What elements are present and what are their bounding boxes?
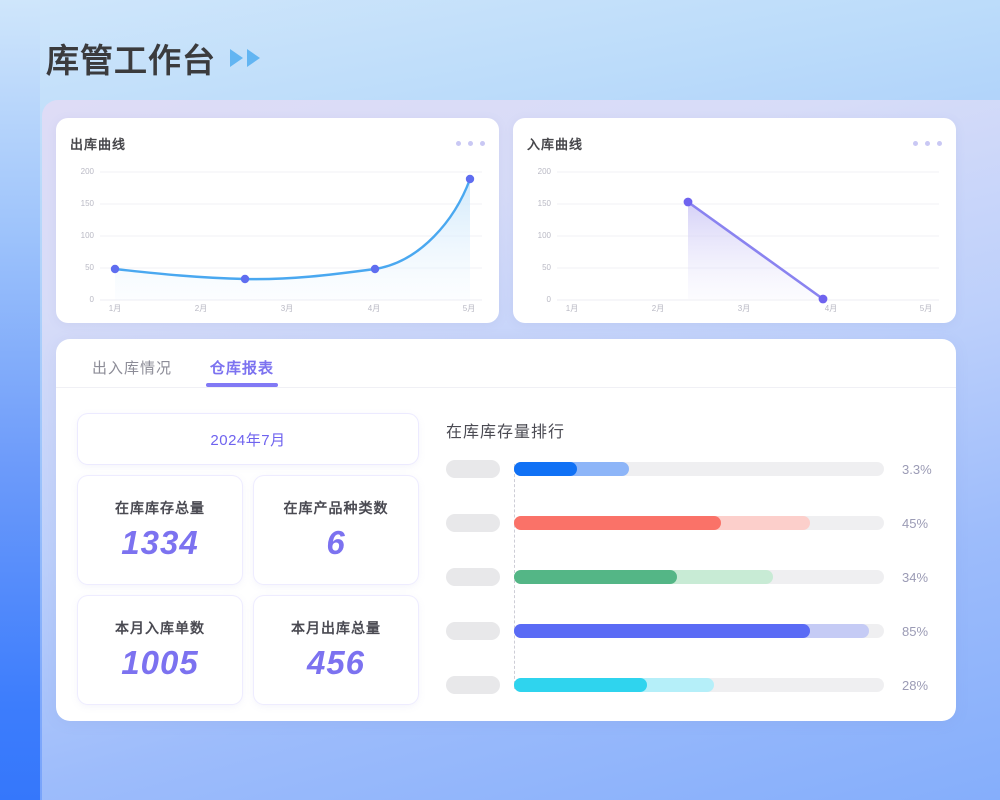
stat-card-outbound-total[interactable]: 本月出库总量 456 (254, 596, 418, 704)
ranking-row[interactable]: 28% (446, 676, 934, 694)
period-label: 2024年7月 (210, 429, 285, 450)
ranking-fill-solid (514, 678, 647, 692)
stats-column: 2024年7月 在库库存总量 1334 在库产品种类数 6 本月入库单数 100… (78, 414, 418, 704)
ranking-name-placeholder (446, 568, 500, 586)
inbound-chart-title: 入库曲线 (527, 134, 583, 153)
report-panel: 出入库情况 仓库报表 2024年7月 在库库存总量 1334 在库产品种类数 6 (56, 339, 956, 721)
ranking-percent: 45% (902, 516, 928, 531)
inbound-ytick-100: 100 (527, 231, 551, 240)
ranking-percent: 28% (902, 678, 928, 693)
outbound-ytick-50: 50 (70, 263, 94, 272)
stat-label: 本月出库总量 (291, 618, 381, 638)
ranking-name-placeholder (446, 622, 500, 640)
inbound-plot: 200 150 100 50 0 1月 2月 3月 4月 5月 (527, 158, 942, 316)
ranking-fill-solid (514, 462, 577, 476)
ranking-fill-solid (514, 570, 677, 584)
outbound-xtick-4: 4月 (361, 303, 387, 314)
inbound-plot-svg (527, 158, 942, 316)
ranking-track (514, 678, 884, 692)
inbound-ytick-50: 50 (527, 263, 551, 272)
ranking-column: 在库库存量排行 3.3% (446, 414, 934, 704)
stat-label: 在库库存总量 (115, 498, 205, 518)
ranking-track (514, 516, 884, 530)
outbound-ytick-100: 100 (70, 231, 94, 240)
stat-grid: 在库库存总量 1334 在库产品种类数 6 本月入库单数 1005 本月出库总量… (78, 476, 418, 704)
ranking-percent: 34% (902, 570, 928, 585)
stat-card-total-stock[interactable]: 在库库存总量 1334 (78, 476, 242, 584)
ranking-track (514, 624, 884, 638)
outbound-chart-header: 出库曲线 (70, 132, 485, 154)
inbound-ytick-0: 0 (527, 295, 551, 304)
inbound-chart-header: 入库曲线 (527, 132, 942, 154)
inbound-chart-card: 入库曲线 (513, 118, 956, 323)
stat-value: 456 (307, 644, 365, 682)
report-tabs: 出入库情况 仓库报表 (78, 357, 934, 387)
ranking-fill-solid (514, 624, 810, 638)
ranking-rows: 3.3% 45% (446, 460, 934, 694)
stat-value: 1005 (121, 644, 198, 682)
period-selector[interactable]: 2024年7月 (78, 414, 418, 464)
outbound-ytick-0: 0 (70, 295, 94, 304)
dashboard-panel: 出库曲线 (42, 100, 1000, 800)
inbound-xtick-2: 2月 (645, 303, 671, 314)
ranking-name-placeholder (446, 676, 500, 694)
report-content: 2024年7月 在库库存总量 1334 在库产品种类数 6 本月入库单数 100… (78, 414, 934, 704)
outbound-chart-title: 出库曲线 (70, 134, 126, 153)
ranking-name-placeholder (446, 460, 500, 478)
three-dots-icon[interactable] (913, 141, 942, 146)
outbound-plot: 200 150 100 50 0 1月 2月 3月 4月 5月 (70, 158, 485, 316)
outbound-ytick-200: 200 (70, 167, 94, 176)
inbound-ytick-200: 200 (527, 167, 551, 176)
ranking-name-placeholder (446, 514, 500, 532)
ranking-percent: 3.3% (902, 462, 932, 477)
ranking-row[interactable]: 34% (446, 568, 934, 586)
outbound-xtick-3: 3月 (274, 303, 300, 314)
ranking-row[interactable]: 85% (446, 622, 934, 640)
ranking-percent: 85% (902, 624, 928, 639)
inbound-ytick-150: 150 (527, 199, 551, 208)
tab-divider (56, 387, 956, 388)
ranking-row[interactable]: 45% (446, 514, 934, 532)
outbound-chart-card: 出库曲线 (56, 118, 499, 323)
inbound-xtick-1: 1月 (559, 303, 585, 314)
inbound-xtick-5: 5月 (913, 303, 939, 314)
inbound-xtick-4: 4月 (818, 303, 844, 314)
stat-value: 1334 (121, 524, 198, 562)
ranking-title: 在库库存量排行 (446, 418, 934, 442)
tab-inout-status[interactable]: 出入库情况 (92, 357, 172, 387)
outbound-ytick-150: 150 (70, 199, 94, 208)
stat-label: 在库产品种类数 (284, 498, 389, 518)
page-header: 库管工作台 (46, 34, 260, 82)
inbound-xtick-3: 3月 (731, 303, 757, 314)
outbound-xtick-5: 5月 (456, 303, 482, 314)
charts-row: 出库曲线 (56, 118, 986, 323)
ranking-fill-solid (514, 516, 721, 530)
stat-value: 6 (326, 524, 345, 562)
outbound-plot-svg (70, 158, 485, 316)
tab-warehouse-report[interactable]: 仓库报表 (210, 357, 274, 387)
three-dots-icon[interactable] (456, 141, 485, 146)
outbound-xtick-2: 2月 (188, 303, 214, 314)
stat-card-product-types[interactable]: 在库产品种类数 6 (254, 476, 418, 584)
stat-label: 本月入库单数 (115, 618, 205, 638)
outbound-xtick-1: 1月 (102, 303, 128, 314)
page-title: 库管工作台 (46, 34, 216, 82)
ranking-track (514, 462, 884, 476)
ranking-track (514, 570, 884, 584)
ranking-row[interactable]: 3.3% (446, 460, 934, 478)
left-edge-rail (0, 0, 40, 800)
double-triangle-right-icon (230, 49, 260, 67)
stat-card-inbound-orders[interactable]: 本月入库单数 1005 (78, 596, 242, 704)
